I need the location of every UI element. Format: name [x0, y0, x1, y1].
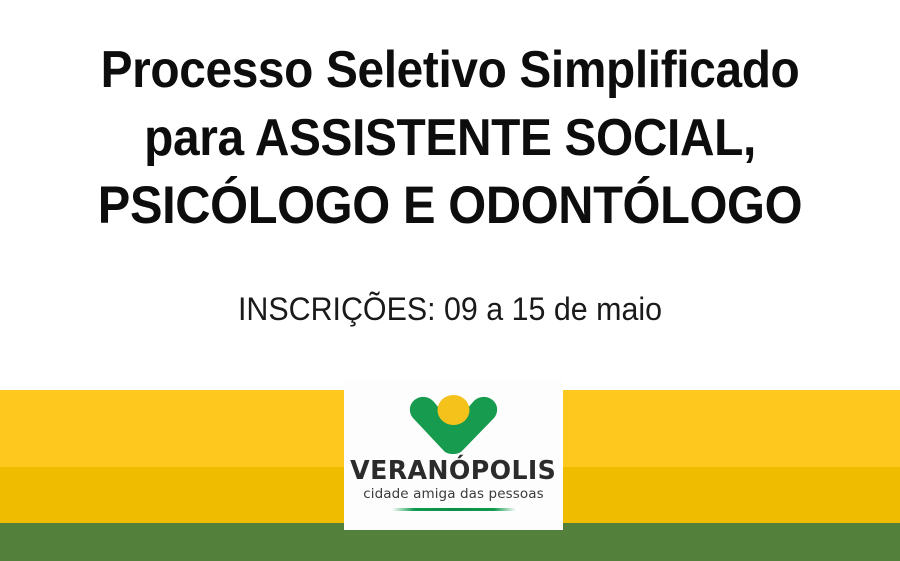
headline-line-3: PSICÓLOGO E ODONTÓLOGO: [36, 172, 864, 240]
headline-line-1: Processo Seletivo Simplificado: [36, 36, 864, 104]
headline-line-2: para ASSISTENTE SOCIAL,: [36, 104, 864, 172]
logo-tagline: cidade amiga das pessoas: [363, 486, 544, 503]
logo-underline-rule: [392, 508, 516, 511]
poster-canvas: Processo Seletivo Simplificado para ASSI…: [0, 0, 900, 561]
logo-wordmark: VERANÓPOLIS: [350, 457, 556, 485]
person-raising-arms-icon: [406, 393, 502, 455]
page-title: Processo Seletivo Simplificado para ASSI…: [0, 36, 900, 240]
registration-period-text: INSCRIÇÕES: 09 a 15 de maio: [23, 288, 878, 330]
veranopolis-logo-card: VERANÓPOLIS cidade amiga das pessoas: [344, 381, 563, 530]
